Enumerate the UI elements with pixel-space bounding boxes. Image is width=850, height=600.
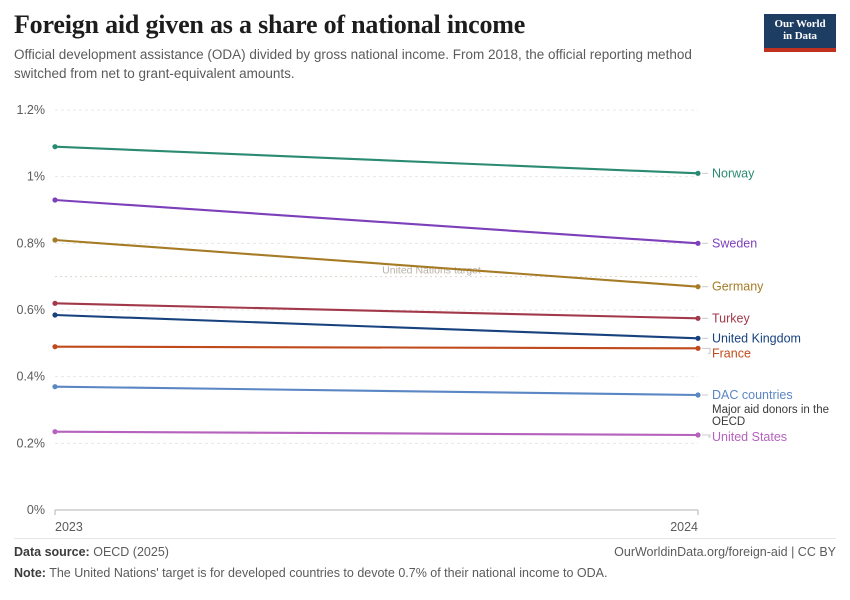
series-label[interactable]: Sweden xyxy=(712,236,757,250)
series-endpoint-marker[interactable] xyxy=(52,312,57,317)
series-sublabel: Major aid donors in the xyxy=(712,404,829,416)
series-endpoint-marker[interactable] xyxy=(695,171,700,176)
series-endpoint-marker[interactable] xyxy=(695,392,700,397)
series-line[interactable] xyxy=(55,200,698,243)
series-endpoint-marker[interactable] xyxy=(52,384,57,389)
series-line[interactable] xyxy=(55,387,698,395)
chart-header: Foreign aid given as a share of national… xyxy=(14,10,774,83)
series-label[interactable]: DAC countries xyxy=(712,388,793,402)
y-axis-tick-label: 0.8% xyxy=(17,236,46,250)
series-label[interactable]: United States xyxy=(712,430,787,444)
series-endpoint-marker[interactable] xyxy=(695,284,700,289)
series-label[interactable]: Turkey xyxy=(712,311,750,325)
series-endpoint-marker[interactable] xyxy=(695,432,700,437)
series-line[interactable] xyxy=(55,347,698,349)
chart-note: Note: The United Nations' target is for … xyxy=(14,566,836,580)
data-source: Data source: OECD (2025) xyxy=(14,545,169,559)
chart-canvas: 0%0.2%0.4%0.6%0.8%1%1.2%United Nations t… xyxy=(0,95,850,535)
page-title: Foreign aid given as a share of national… xyxy=(14,10,774,40)
y-axis-tick-label: 1% xyxy=(27,170,45,184)
series-label-leader xyxy=(702,348,710,353)
series-label[interactable]: France xyxy=(712,346,751,360)
series-label-leader xyxy=(702,435,710,437)
note-label: Note: xyxy=(14,566,46,580)
series-endpoint-marker[interactable] xyxy=(52,197,57,202)
x-axis-tick-label: 2023 xyxy=(55,520,83,534)
note-value: The United Nations' target is for develo… xyxy=(49,566,607,580)
owid-logo[interactable]: Our World in Data xyxy=(764,14,836,52)
series-endpoint-marker[interactable] xyxy=(695,241,700,246)
y-axis-tick-label: 0.2% xyxy=(17,436,46,450)
series-endpoint-marker[interactable] xyxy=(695,346,700,351)
chart-page: Foreign aid given as a share of national… xyxy=(0,0,850,600)
footer-divider xyxy=(14,538,836,539)
line-chart-svg[interactable]: 0%0.2%0.4%0.6%0.8%1%1.2%United Nations t… xyxy=(0,95,850,535)
x-axis-tick-label: 2024 xyxy=(670,520,698,534)
y-axis-tick-label: 0% xyxy=(27,503,45,517)
series-endpoint-marker[interactable] xyxy=(52,344,57,349)
series-line[interactable] xyxy=(55,303,698,318)
series-line[interactable] xyxy=(55,432,698,435)
series-label[interactable]: Germany xyxy=(712,280,764,294)
series-label[interactable]: Norway xyxy=(712,166,755,180)
series-line[interactable] xyxy=(55,240,698,287)
series-endpoint-marker[interactable] xyxy=(52,301,57,306)
y-axis-tick-label: 0.6% xyxy=(17,303,46,317)
logo-line-2: in Data xyxy=(783,31,817,43)
series-line[interactable] xyxy=(55,315,698,338)
series-endpoint-marker[interactable] xyxy=(52,144,57,149)
chart-subtitle: Official development assistance (ODA) di… xyxy=(14,46,724,83)
series-endpoint-marker[interactable] xyxy=(695,316,700,321)
data-source-label: Data source: xyxy=(14,545,90,559)
y-axis-tick-label: 0.4% xyxy=(17,370,46,384)
series-label[interactable]: United Kingdom xyxy=(712,331,801,345)
series-sublabel: OECD xyxy=(712,416,745,428)
series-endpoint-marker[interactable] xyxy=(52,237,57,242)
y-axis-tick-label: 1.2% xyxy=(17,103,46,117)
series-endpoint-marker[interactable] xyxy=(695,336,700,341)
source-url[interactable]: OurWorldinData.org/foreign-aid | CC BY xyxy=(614,545,836,559)
data-source-value: OECD (2025) xyxy=(93,545,169,559)
chart-footer: Data source: OECD (2025) OurWorldinData.… xyxy=(14,545,836,580)
series-endpoint-marker[interactable] xyxy=(52,429,57,434)
series-line[interactable] xyxy=(55,147,698,174)
